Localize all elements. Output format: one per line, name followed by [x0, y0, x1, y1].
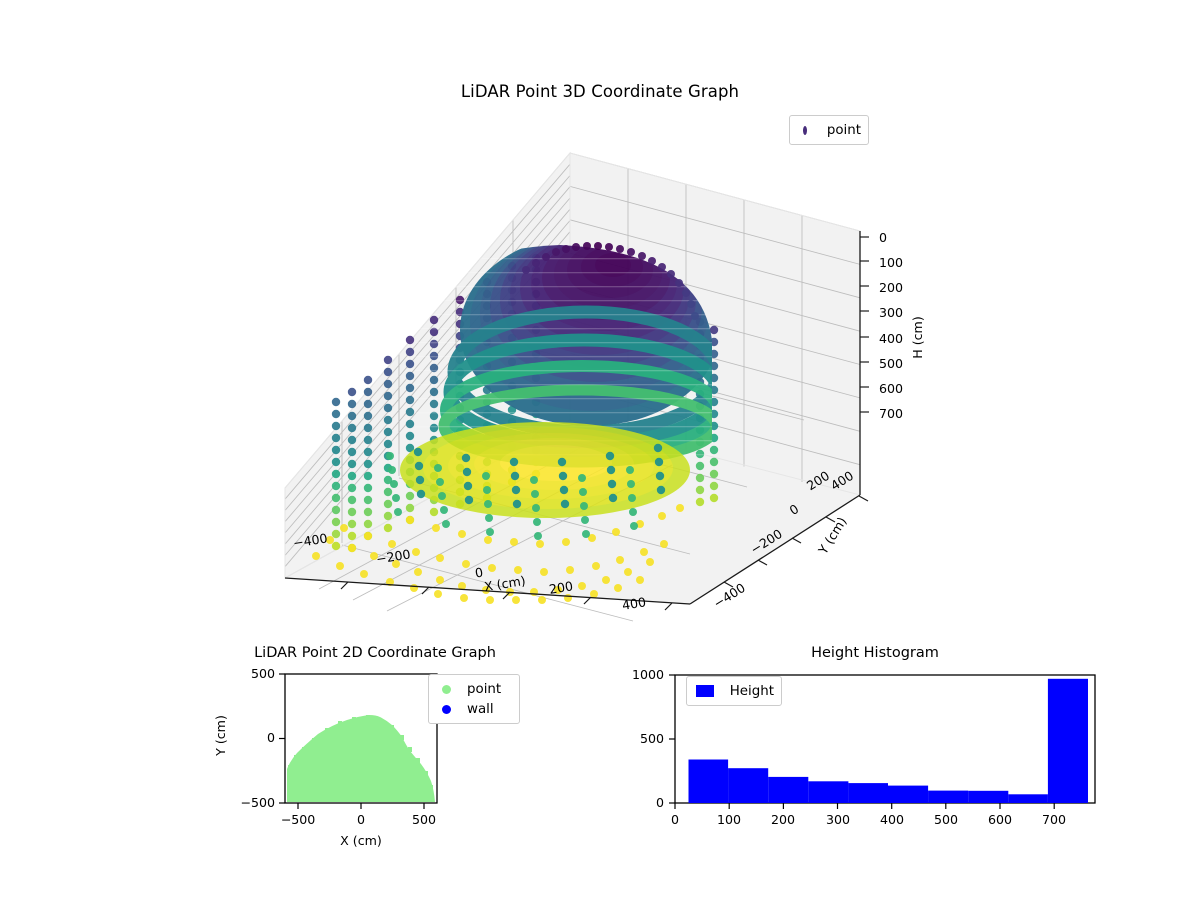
- legend-label: Height: [720, 684, 774, 699]
- wall-marker-icon: [442, 705, 451, 714]
- panel-2d-title: LiDAR Point 2D Coordinate Graph: [200, 645, 550, 661]
- ytick-label-hist: 1000: [620, 667, 664, 682]
- z-axis-label-3d: H (cm): [910, 316, 925, 359]
- point-marker-icon: [442, 685, 451, 694]
- xtick-label-hist: 400: [872, 812, 912, 827]
- xtick-label-2d: 0: [341, 812, 381, 827]
- ytick-label-2d: 500: [243, 666, 275, 681]
- xtick-label-hist: 500: [926, 812, 966, 827]
- legend-item-point: point: [436, 679, 512, 699]
- ztick-label-3d: 500: [879, 356, 903, 371]
- y-axis-label-2d: Y (cm): [213, 715, 228, 756]
- xtick-label-2d: 500: [404, 812, 444, 827]
- ytick-label-hist: 0: [620, 795, 664, 810]
- legend-label: point: [457, 682, 501, 697]
- ztick-label-3d: 200: [879, 280, 903, 295]
- ztick-label-3d: 700: [879, 406, 903, 421]
- ytick-label-2d: −500: [235, 795, 275, 810]
- ztick-label-3d: 0: [879, 230, 887, 245]
- xtick-label-hist: 700: [1034, 812, 1074, 827]
- legend-item-wall: wall: [436, 699, 512, 719]
- ztick-label-3d: 300: [879, 305, 903, 320]
- ztick-label-3d: 400: [879, 331, 903, 346]
- legend-label: wall: [457, 702, 494, 717]
- xtick-label-hist: 300: [818, 812, 858, 827]
- panel-hist-title: Height Histogram: [700, 645, 1050, 661]
- height-bar-icon: [696, 685, 714, 697]
- ytick-label-2d: 0: [243, 730, 275, 745]
- ytick-label-hist: 500: [620, 731, 664, 746]
- xtick-label-hist: 200: [763, 812, 803, 827]
- axes-2d: [180, 665, 600, 855]
- xtick-label-hist: 0: [655, 812, 695, 827]
- legend-2d[interactable]: point wall: [428, 674, 520, 724]
- xtick-label-2d: −500: [278, 812, 318, 827]
- x-axis-label-2d: X (cm): [321, 833, 401, 848]
- ztick-label-3d: 100: [879, 255, 903, 270]
- axes-3d: [0, 0, 1200, 640]
- legend-item-height: Height: [694, 681, 774, 701]
- matplotlib-figure: LiDAR Point 3D Coordinate Graph point: [0, 0, 1200, 900]
- ztick-label-3d: 600: [879, 381, 903, 396]
- legend-hist[interactable]: Height: [686, 676, 782, 706]
- xtick-label-hist: 100: [709, 812, 749, 827]
- xtick-label-hist: 600: [980, 812, 1020, 827]
